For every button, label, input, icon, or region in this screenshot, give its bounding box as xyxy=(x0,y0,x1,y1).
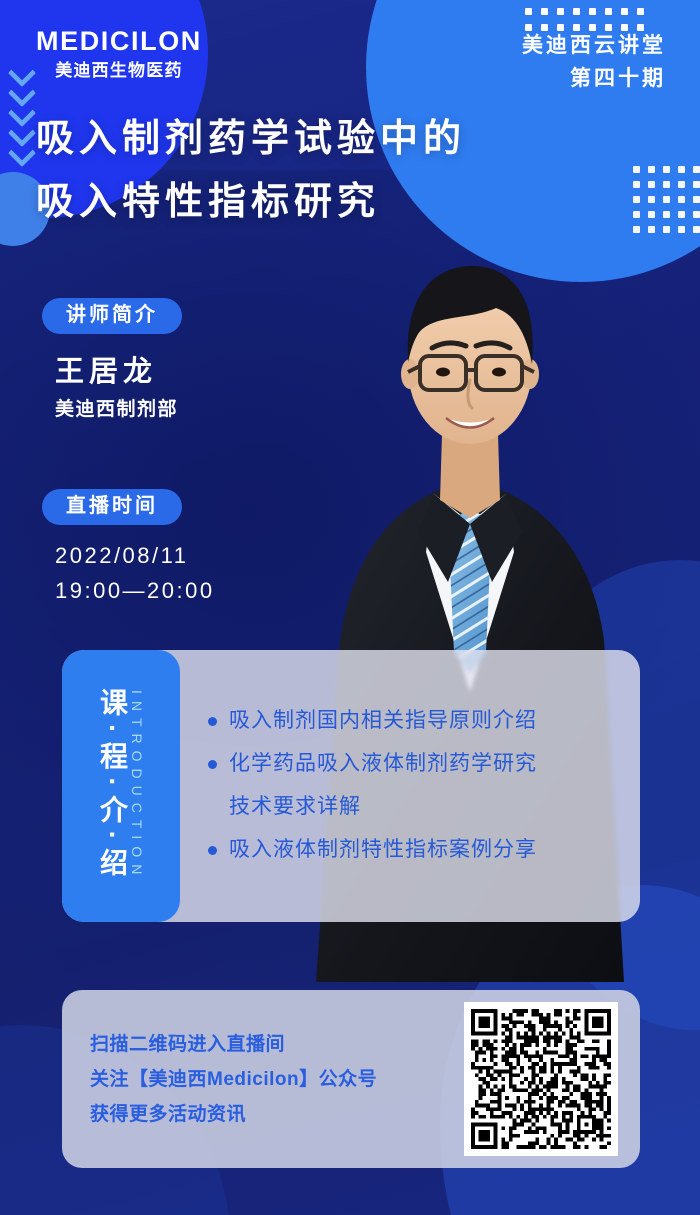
brand-wordmark: MEDICILON xyxy=(36,28,202,55)
bullet-icon xyxy=(208,760,217,769)
course-intro-tab-label-en: INTRODUCTION xyxy=(130,690,144,881)
speaker-name: 王居龙 xyxy=(55,358,157,387)
list-item: 吸入制剂国内相关指导原则介绍 xyxy=(208,701,622,742)
chevron-decoration xyxy=(9,62,35,157)
course-intro-tab: 课·程·介·绍 INTRODUCTION xyxy=(62,650,180,922)
dot-grid-middle-right xyxy=(633,166,700,233)
list-item-label: 吸入液体制剂特性指标案例分享 xyxy=(229,830,537,871)
webinar-poster: MEDICILON 美迪西生物医药 美迪西云讲堂 第四十期 吸入制剂药学试验中的… xyxy=(0,0,700,1215)
series-episode: 第四十期 xyxy=(522,63,666,96)
schedule-date: 2022/08/11 xyxy=(55,545,188,567)
qr-instruction-line: 获得更多活动资讯 xyxy=(90,1105,464,1124)
course-intro-tab-label-cn: 课·程·介·绍 xyxy=(98,688,126,884)
title-line-1: 吸入制剂药学试验中的 xyxy=(36,108,466,171)
brand-logo: MEDICILON 美迪西生物医药 xyxy=(36,28,202,79)
bullet-icon xyxy=(208,717,217,726)
qr-instruction-line: 关注【美迪西Medicilon】公众号 xyxy=(90,1070,464,1089)
series-name: 美迪西云讲堂 xyxy=(522,30,666,63)
series-badge: 美迪西云讲堂 第四十期 xyxy=(522,30,666,95)
qr-instruction-line: 扫描二维码进入直播间 xyxy=(90,1035,464,1054)
title-line-2: 吸入特性指标研究 xyxy=(36,171,466,234)
qr-instructions: 扫描二维码进入直播间 关注【美迪西Medicilon】公众号 获得更多活动资讯 xyxy=(90,1035,464,1124)
chevron-down-icon xyxy=(9,62,35,77)
chevron-down-icon xyxy=(9,102,35,117)
list-item: 吸入液体制剂特性指标案例分享 xyxy=(208,830,622,871)
bullet-icon xyxy=(208,846,217,855)
dot-grid-top-right xyxy=(525,8,644,31)
chevron-down-icon xyxy=(9,122,35,137)
list-item: 化学药品吸入液体制剂药学研究 xyxy=(208,744,622,785)
course-intro-panel: 课·程·介·绍 INTRODUCTION 吸入制剂国内相关指导原则介绍 化学药品… xyxy=(62,650,640,922)
brand-subtitle: 美迪西生物医药 xyxy=(36,62,202,79)
qr-code[interactable] xyxy=(464,1002,618,1156)
list-item-label: 化学药品吸入液体制剂药学研究 xyxy=(229,744,537,785)
bullet-spacer xyxy=(208,803,217,812)
course-intro-list: 吸入制剂国内相关指导原则介绍 化学药品吸入液体制剂药学研究 技术要求详解 吸入液… xyxy=(180,650,640,922)
page-title: 吸入制剂药学试验中的 吸入特性指标研究 xyxy=(36,108,466,233)
chevron-down-icon xyxy=(9,142,35,157)
speaker-role: 美迪西制剂部 xyxy=(55,400,178,419)
schedule-section-label: 直播时间 xyxy=(42,489,182,525)
qr-panel: 扫描二维码进入直播间 关注【美迪西Medicilon】公众号 获得更多活动资讯 xyxy=(62,990,640,1168)
chevron-down-icon xyxy=(9,82,35,97)
list-item-label: 吸入制剂国内相关指导原则介绍 xyxy=(229,701,537,742)
speaker-section-label: 讲师简介 xyxy=(42,298,182,334)
list-item-label: 技术要求详解 xyxy=(229,787,361,828)
list-item-continuation: 技术要求详解 xyxy=(208,787,622,828)
schedule-time-range: 19:00—20:00 xyxy=(55,580,215,602)
